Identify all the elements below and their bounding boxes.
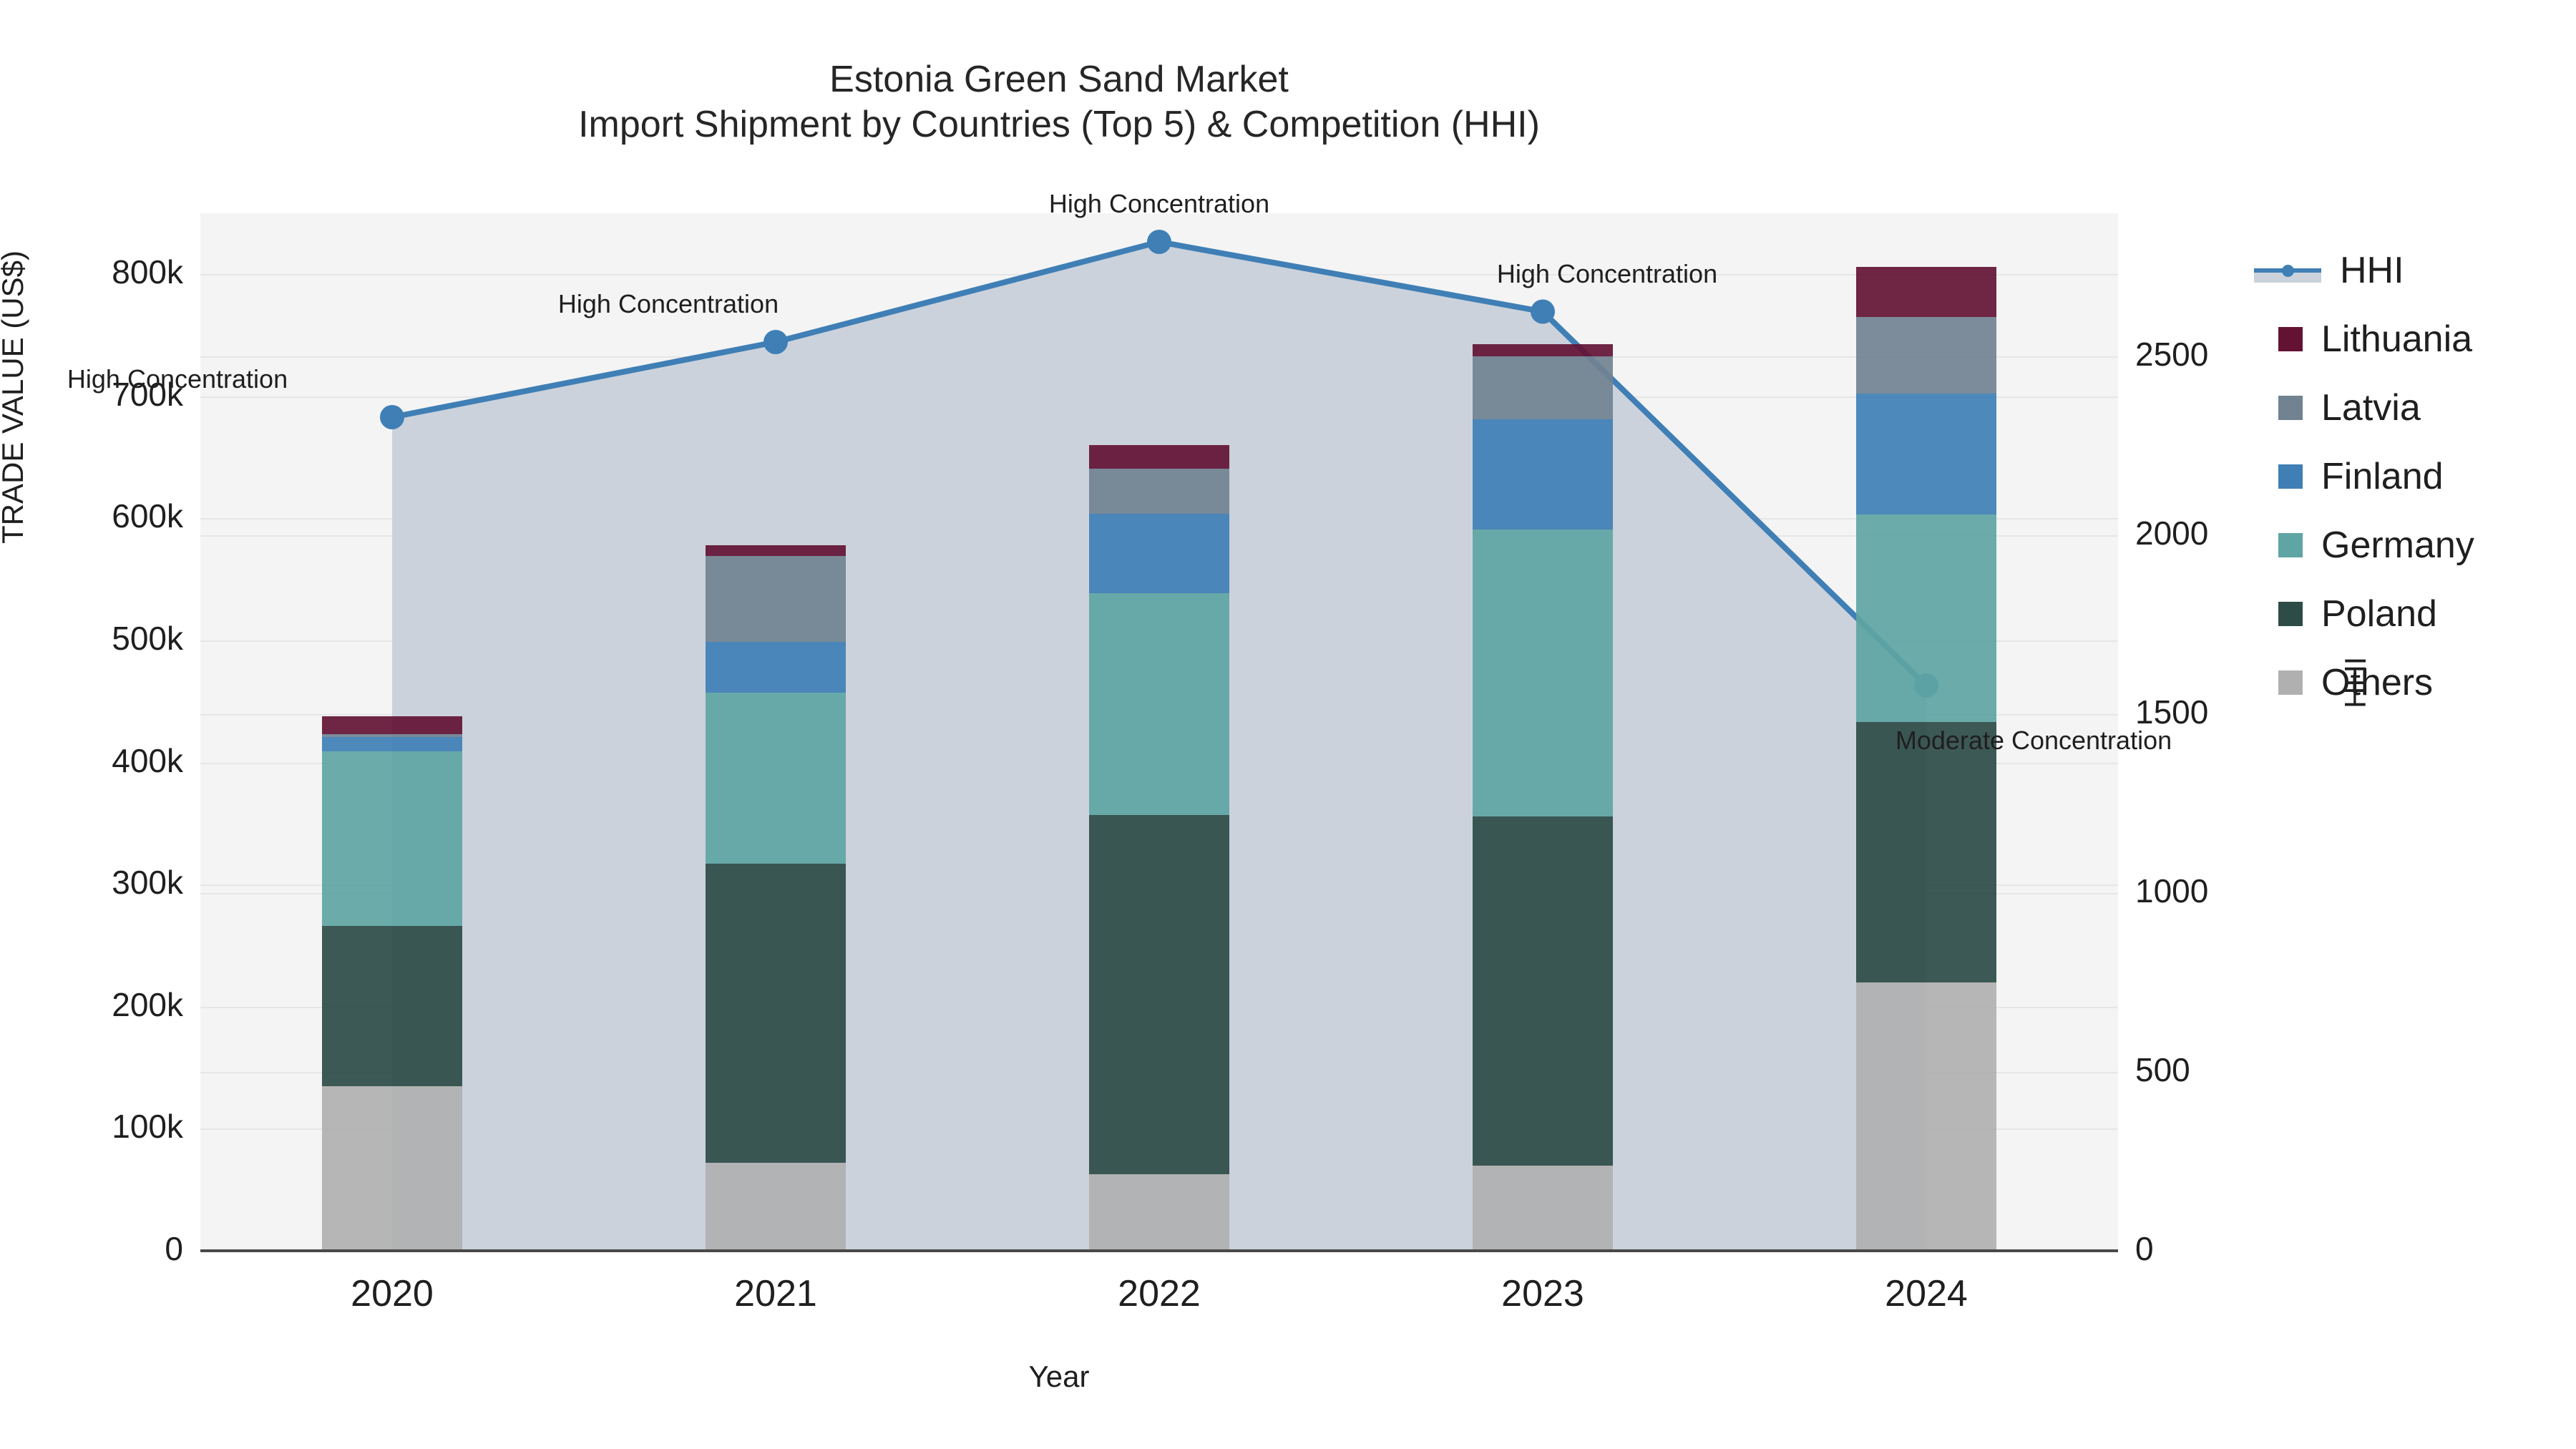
y-axis-right-tick-label: 0 xyxy=(2135,1229,2154,1268)
bar-segment[interactable] xyxy=(1856,514,1996,722)
bar-segment[interactable] xyxy=(1089,514,1229,593)
legend-item-label: Lithuania xyxy=(2321,318,2472,361)
y-axis-left-tick-label: 200k xyxy=(0,985,183,1024)
bar-segment[interactable] xyxy=(1473,356,1613,420)
bar-segment[interactable] xyxy=(322,716,462,735)
chart-legend: HHILithuaniaLatviaFinlandGermanyPolandOt… xyxy=(2254,236,2474,717)
legend-item-label: Others xyxy=(2321,661,2433,704)
concentration-annotation: High Concentration xyxy=(558,289,779,319)
legend-item[interactable]: Poland xyxy=(2254,580,2474,648)
bar-segment[interactable] xyxy=(1473,1166,1613,1251)
x-axis-tick-label[interactable]: 2021 xyxy=(734,1272,817,1315)
x-axis-tick-label[interactable]: 2022 xyxy=(1118,1272,1201,1315)
chart-title: Estonia Green Sand Market xyxy=(0,57,2118,102)
legend-item[interactable]: Germany xyxy=(2254,511,2474,580)
bar-segment[interactable] xyxy=(322,751,462,926)
x-axis-tick-label[interactable]: 2024 xyxy=(1885,1272,1968,1315)
legend-item-label: Germany xyxy=(2321,524,2474,567)
x-axis-title: Year xyxy=(0,1360,2118,1394)
y-axis-right-tick-label: 2500 xyxy=(2135,335,2208,374)
legend-item-label: Latvia xyxy=(2321,386,2421,429)
x-axis-tick-label[interactable]: 2020 xyxy=(351,1272,434,1315)
y-axis-left-tick-label: 500k xyxy=(0,619,183,658)
y-axis-right-tick-label: 1500 xyxy=(2135,693,2208,731)
legend-item[interactable]: Others xyxy=(2254,648,2474,717)
y-axis-left-tick-label: 400k xyxy=(0,741,183,780)
bar-segment[interactable] xyxy=(706,1163,846,1251)
bar-segment[interactable] xyxy=(1473,344,1613,356)
bar-segment[interactable] xyxy=(1856,982,1996,1251)
legend-item[interactable]: Finland xyxy=(2254,442,2474,511)
legend-swatch-icon xyxy=(2278,396,2303,420)
y-axis-left-title: TRADE VALUE (US$) xyxy=(0,250,30,544)
legend-line-dot xyxy=(2282,265,2294,277)
bar-segment[interactable] xyxy=(706,864,846,1163)
bar-segment[interactable] xyxy=(706,545,846,556)
legend-item-label: Poland xyxy=(2321,592,2437,635)
concentration-annotation: High Concentration xyxy=(1497,259,1717,289)
legend-swatch-icon xyxy=(2278,533,2303,557)
legend-swatch-icon xyxy=(2278,464,2303,489)
legend-item[interactable]: Lithuania xyxy=(2254,305,2474,374)
concentration-annotation: Moderate Concentration xyxy=(1896,726,2172,756)
bar-segment[interactable] xyxy=(1089,815,1229,1174)
bar-segment[interactable] xyxy=(322,737,462,751)
gridline-secondary xyxy=(200,356,2118,358)
bar-segment[interactable] xyxy=(706,642,846,693)
bar-segment[interactable] xyxy=(706,556,846,641)
bar-segment[interactable] xyxy=(1473,419,1613,530)
y-axis-left-tick-label: 100k xyxy=(0,1107,183,1146)
bar-segment[interactable] xyxy=(322,1086,462,1251)
bar-segment[interactable] xyxy=(1089,445,1229,468)
x-axis-tick-label[interactable]: 2023 xyxy=(1501,1272,1584,1315)
bar-segment[interactable] xyxy=(322,734,462,736)
gridline xyxy=(200,396,2118,398)
x-axis-line xyxy=(200,1249,2118,1252)
bar-segment[interactable] xyxy=(706,693,846,864)
bar-segment[interactable] xyxy=(1856,267,1996,317)
bar-segment[interactable] xyxy=(1856,394,1996,514)
bar-segment[interactable] xyxy=(1473,530,1613,816)
bar-segment[interactable] xyxy=(1089,593,1229,815)
legend-swatch-icon xyxy=(2278,670,2303,695)
legend-item-label: HHI xyxy=(2340,249,2404,292)
legend-swatch-icon xyxy=(2278,327,2303,351)
legend-line-icon xyxy=(2254,258,2321,283)
y-axis-right-tick-label: 1000 xyxy=(2135,872,2208,910)
chart-subtitle: Import Shipment by Countries (Top 5) & C… xyxy=(0,102,2118,147)
bar-segment[interactable] xyxy=(1473,816,1613,1166)
legend-item[interactable]: Latvia xyxy=(2254,374,2474,442)
bar-segment[interactable] xyxy=(322,926,462,1085)
legend-swatch-icon xyxy=(2278,602,2303,626)
y-axis-right-tick-label: 2000 xyxy=(2135,514,2208,552)
bar-segment[interactable] xyxy=(1856,722,1996,982)
y-axis-right-tick-label: 500 xyxy=(2135,1050,2190,1089)
chart-root: Estonia Green Sand Market Import Shipmen… xyxy=(0,0,2576,1449)
bar-segment[interactable] xyxy=(1856,317,1996,394)
bar-segment[interactable] xyxy=(1089,1174,1229,1251)
gridline xyxy=(200,274,2118,275)
concentration-annotation: High Concentration xyxy=(1049,189,1269,219)
legend-item-label: Finland xyxy=(2321,455,2444,498)
y-axis-left-tick-label: 0 xyxy=(0,1229,183,1268)
y-axis-left-tick-label: 300k xyxy=(0,863,183,902)
legend-item[interactable]: HHI xyxy=(2254,236,2474,305)
bar-segment[interactable] xyxy=(1089,469,1229,514)
chart-title-block: Estonia Green Sand Market Import Shipmen… xyxy=(0,57,2118,148)
